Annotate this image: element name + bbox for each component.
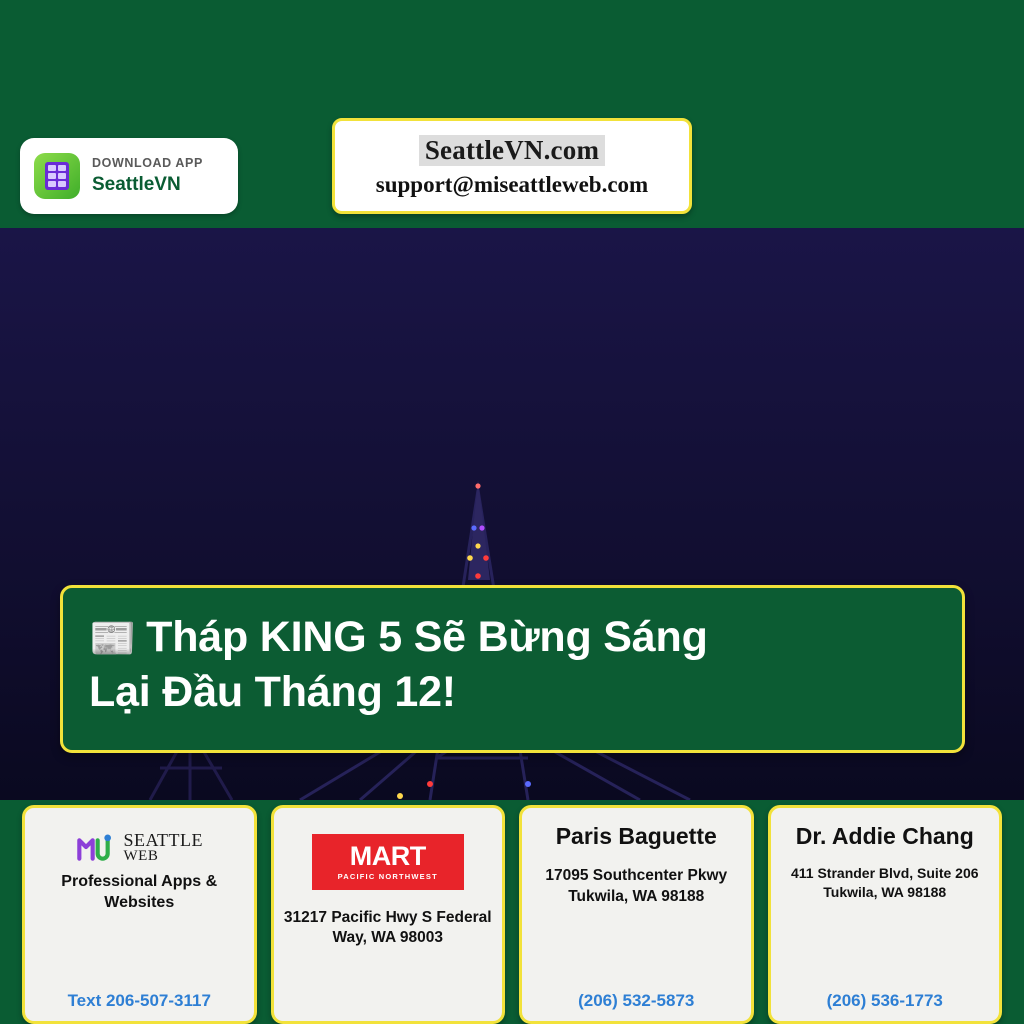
- hmart-logo-main: MART: [350, 843, 426, 870]
- hmart-logo: MART PACIFIC NORTHWEST: [312, 834, 464, 890]
- headline-line-1: 📰Tháp KING 5 Sẽ Bừng Sáng: [89, 610, 936, 665]
- top-bar: DOWNLOAD APP SeattleVN SeattleVN.com sup…: [0, 0, 1024, 228]
- dr-addie-chang-title: Dr. Addie Chang: [796, 822, 974, 850]
- sponsor-card-paris-baguette[interactable]: Paris Baguette 17095 Southcenter Pkwy Tu…: [519, 805, 754, 1024]
- seattle-web-mark-icon: [76, 830, 116, 864]
- dr-addie-chang-address: 411 Strander Blvd, Suite 206 Tukwila, WA…: [781, 864, 990, 901]
- seattle-web-subtitle: Professional Apps & Websites: [35, 872, 244, 914]
- headline-text-2: Lại Đầu Tháng 12!: [89, 665, 936, 720]
- download-app-name: SeattleVN: [92, 174, 203, 196]
- contact-box[interactable]: SeattleVN.com support@miseattleweb.com: [332, 118, 692, 214]
- dr-addie-chang-phone[interactable]: (206) 536-1773: [827, 983, 943, 1011]
- hmart-logo-sub: PACIFIC NORTHWEST: [338, 872, 438, 881]
- paris-baguette-phone[interactable]: (206) 532-5873: [578, 983, 694, 1011]
- sponsor-card-dr-addie-chang[interactable]: Dr. Addie Chang 411 Strander Blvd, Suite…: [768, 805, 1003, 1024]
- seattle-web-word-1: SEATTLE: [124, 831, 204, 849]
- seattle-web-phone[interactable]: Text 206-507-3117: [68, 983, 211, 1011]
- seattle-web-logo: SEATTLE WEB: [76, 830, 204, 864]
- download-app-label: DOWNLOAD APP: [92, 156, 203, 170]
- headline-text-1: Tháp KING 5 Sẽ Bừng Sáng: [146, 613, 708, 661]
- paris-baguette-address: 17095 Southcenter Pkwy Tukwila, WA 98188: [532, 866, 741, 907]
- app-grid-icon: [34, 153, 80, 199]
- sponsor-card-hmart[interactable]: MART PACIFIC NORTHWEST 31217 Pacific Hwy…: [271, 805, 506, 1024]
- seattle-web-word-2: WEB: [124, 849, 204, 864]
- download-app-pill[interactable]: DOWNLOAD APP SeattleVN: [20, 138, 238, 214]
- support-email: support@miseattleweb.com: [376, 172, 648, 198]
- sponsor-card-row: SEATTLE WEB Professional Apps & Websites…: [0, 805, 1024, 1024]
- newspaper-icon: 📰: [89, 618, 136, 660]
- website-url: SeattleVN.com: [419, 135, 605, 166]
- poster-root: DOWNLOAD APP SeattleVN SeattleVN.com sup…: [0, 0, 1024, 1024]
- hmart-address: 31217 Pacific Hwy S Federal Way, WA 9800…: [284, 908, 493, 949]
- sponsor-card-seattle-web[interactable]: SEATTLE WEB Professional Apps & Websites…: [22, 805, 257, 1024]
- headline-banner: 📰Tháp KING 5 Sẽ Bừng Sáng Lại Đầu Tháng …: [60, 585, 965, 753]
- paris-baguette-title: Paris Baguette: [556, 822, 717, 850]
